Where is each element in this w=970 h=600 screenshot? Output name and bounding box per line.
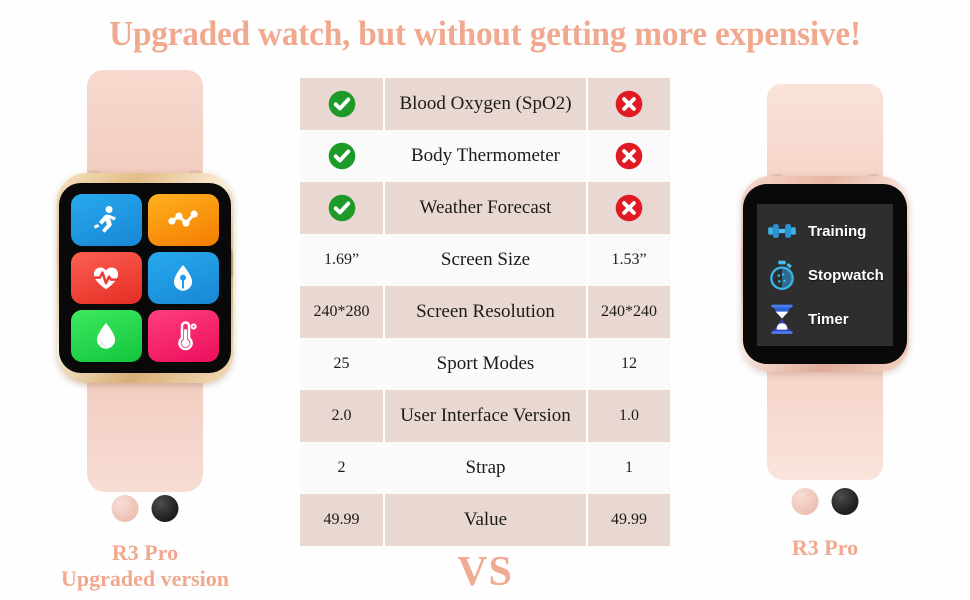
feature-cell: Value [383,494,588,546]
left-value-cell [300,78,383,130]
left-color-swatches[interactable] [112,495,179,522]
table-row: 25Sport Modes12 [300,338,670,390]
feature-cell: Strap [383,442,588,494]
right-value-cell: 1.53” [588,234,670,286]
feature-cell: Screen Size [383,234,588,286]
left-value-cell: 240*280 [300,286,383,338]
vs-label: VS [300,548,670,596]
left-value-cell: 2 [300,442,383,494]
left-value: 240*280 [314,303,370,321]
swatch-blush[interactable] [112,495,139,522]
left-value-cell: 2.0 [300,390,383,442]
right-value-cell [588,182,670,234]
table-row: 240*280Screen Resolution240*240 [300,286,670,338]
right-value: 1.0 [619,407,639,425]
watch-strap-bottom [87,370,203,492]
left-value-cell [300,182,383,234]
right-value-cell: 1.0 [588,390,670,442]
menu-item-timer[interactable]: Timer [765,302,849,336]
watch-menu-screen: Training [757,204,893,346]
left-product-name: R3 Pro [0,540,290,566]
hourglass-icon [765,302,799,336]
right-value: 49.99 [611,511,647,529]
thermometer-icon[interactable] [148,310,219,362]
left-value: 2.0 [332,407,352,425]
left-watch-image [45,70,245,490]
table-row: Weather Forecast [300,182,670,234]
check-icon [328,142,356,170]
feature-cell: Blood Oxygen (SpO2) [383,78,588,130]
table-row: Blood Oxygen (SpO2) [300,78,670,130]
dumbbell-icon [765,214,799,248]
page-title: Upgraded watch, but without getting more… [24,14,946,54]
menu-item-stopwatch[interactable]: Stopwatch [765,258,884,292]
right-value: 12 [621,355,637,373]
right-value-cell: 49.99 [588,494,670,546]
check-icon [328,194,356,222]
right-color-swatches[interactable] [792,488,859,515]
left-value-cell: 1.69” [300,234,383,286]
right-value: 240*240 [601,303,657,321]
menu-item-training[interactable]: Training [765,214,866,248]
feature-label: User Interface Version [400,405,571,427]
right-value: 1.53” [611,251,646,269]
table-row: 49.99Value49.99 [300,494,670,546]
feature-cell: Sport Modes [383,338,588,390]
table-row: 2Strap1 [300,442,670,494]
menu-item-label: Stopwatch [808,267,884,284]
left-value: 1.69” [324,251,359,269]
cross-icon [615,194,643,222]
promo-banner: Upgraded watch, but without getting more… [0,0,970,600]
watch-strap-top [87,70,203,190]
feature-label: Body Thermometer [411,145,560,167]
feature-label: Screen Resolution [416,301,555,323]
watch-screen: Training [743,184,907,364]
table-row: Body Thermometer [300,130,670,182]
feature-label: Weather Forecast [420,197,552,219]
left-value-cell: 49.99 [300,494,383,546]
running-icon[interactable] [71,194,142,246]
left-product-panel: R3 Pro Upgraded version [0,70,290,590]
check-icon [328,90,356,118]
right-value-cell: 1 [588,442,670,494]
feature-label: Screen Size [441,249,530,271]
feature-cell: Screen Resolution [383,286,588,338]
feature-label: Strap [465,457,505,479]
left-product-subtitle: Upgraded version [0,566,290,592]
feature-cell: Weather Forecast [383,182,588,234]
menu-item-label: Training [808,223,866,240]
table-row: 2.0User Interface Version1.0 [300,390,670,442]
left-value: 2 [338,459,346,477]
right-watch-image: Training [725,84,925,484]
table-row: 1.69”Screen Size1.53” [300,234,670,286]
right-value-cell: 12 [588,338,670,390]
comparison-table: Blood Oxygen (SpO2)Body ThermometerWeath… [300,78,670,546]
water-drop-icon[interactable] [71,310,142,362]
swatch-blush[interactable] [792,488,819,515]
left-value: 49.99 [324,511,360,529]
feature-label: Value [464,509,507,531]
left-value-cell: 25 [300,338,383,390]
right-value-cell [588,78,670,130]
left-value: 25 [334,355,350,373]
right-value-cell: 240*240 [588,286,670,338]
app-grid [71,194,219,362]
feature-cell: Body Thermometer [383,130,588,182]
swatch-black[interactable] [832,488,859,515]
swatch-black[interactable] [152,495,179,522]
cross-icon [615,142,643,170]
blood-oxygen-icon[interactable] [148,252,219,304]
feature-cell: User Interface Version [383,390,588,442]
watch-strap-bottom [767,362,883,480]
left-value-cell [300,130,383,182]
watch-screen [59,183,231,373]
menu-item-label: Timer [808,311,849,328]
feature-label: Sport Modes [437,353,535,375]
stopwatch-icon [765,258,799,292]
cross-icon [615,90,643,118]
right-product-panel: Training [680,70,970,590]
activity-graph-icon[interactable] [148,194,219,246]
right-value-cell [588,130,670,182]
feature-label: Blood Oxygen (SpO2) [399,93,571,115]
right-value: 1 [625,459,633,477]
heart-rate-icon[interactable] [71,252,142,304]
right-product-name: R3 Pro [680,535,970,561]
